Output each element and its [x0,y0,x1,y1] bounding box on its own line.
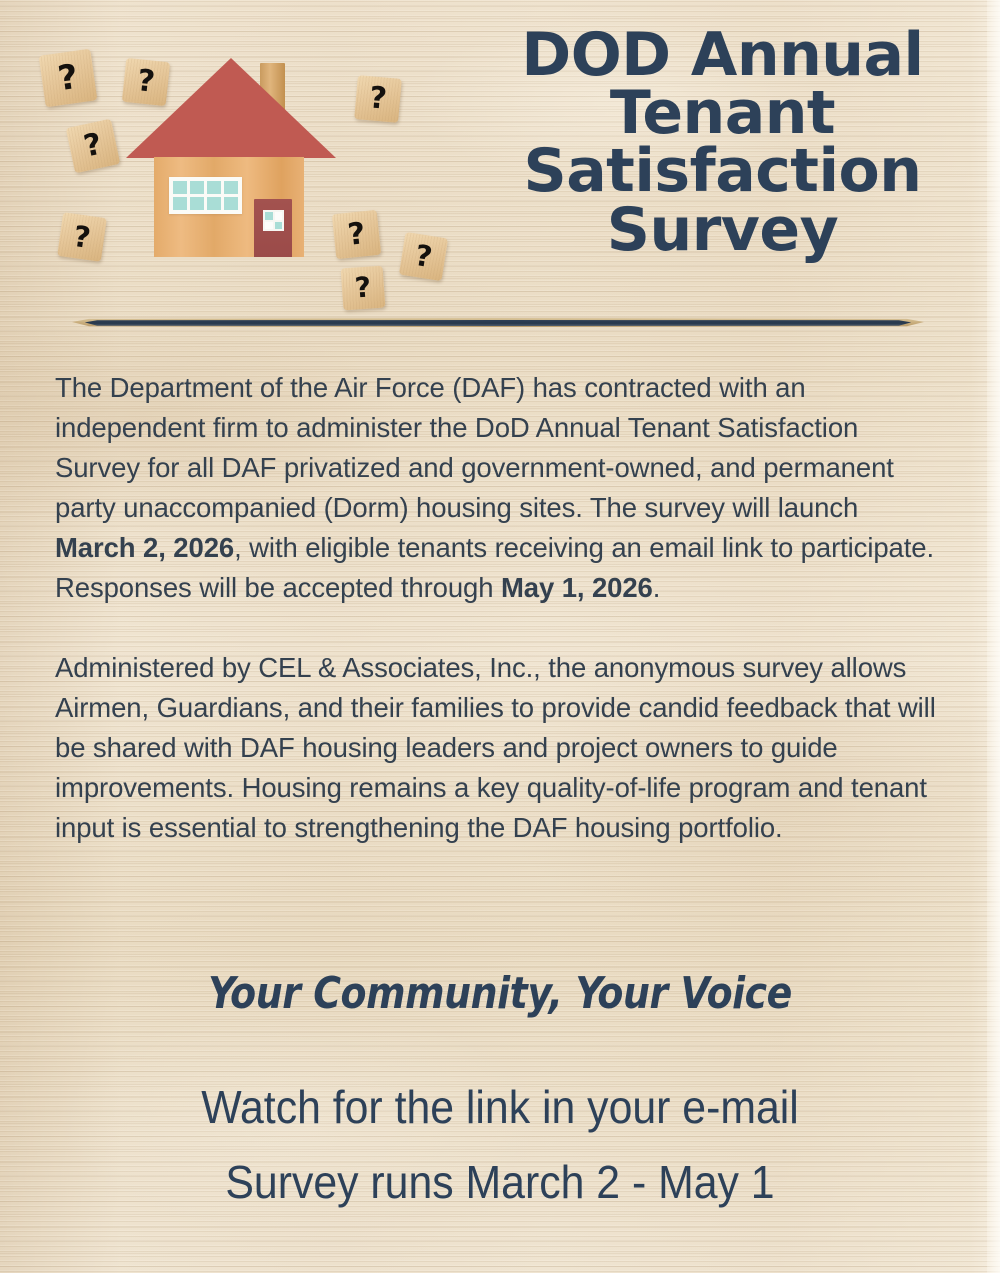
question-mark-block: ? [57,212,107,262]
question-mark-glyph: ? [136,66,156,98]
window-pane [190,197,204,210]
emphasized-date: May 1, 2026 [501,572,653,603]
title-line: DOD Annual [470,26,975,84]
question-mark-block: ? [341,266,386,311]
tagline: Your Community, Your Voice [70,968,930,1019]
question-mark-block: ? [66,119,121,174]
title-line: Survey [470,201,975,259]
poster-canvas: ???????? DOD Annual Tenant Satisfaction … [0,0,1000,1273]
question-mark-block: ? [39,49,98,108]
page-title: DOD Annual Tenant Satisfaction Survey [470,26,975,259]
question-mark-glyph: ? [346,219,366,251]
title-line: Satisfaction [470,142,975,200]
body-paragraph: Administered by CEL & Associates, Inc., … [55,648,945,848]
question-mark-block: ? [332,210,381,259]
poster-header: ???????? DOD Annual Tenant Satisfaction … [0,0,1000,300]
divider [72,315,924,331]
question-mark-glyph: ? [413,241,434,272]
closing-line-watch-for-link: Watch for the link in your e-mail [35,1080,965,1134]
door-pane [265,222,273,230]
emphasized-date: March 2, 2026 [55,532,234,563]
question-mark-block: ? [354,75,402,123]
house-question-blocks-illustration: ???????? [30,30,470,300]
house-door-icon [254,199,292,257]
door-pane [275,222,283,230]
door-window-icon [263,210,284,231]
divider-navy-core [85,320,911,326]
question-mark-glyph: ? [72,221,93,252]
question-mark-block: ? [122,58,170,106]
window-pane [224,181,238,194]
title-line: Tenant [470,84,975,142]
body-text-run: Administered by CEL & Associates, Inc., … [55,652,936,843]
window-pane [173,197,187,210]
house-window-icon [169,177,242,214]
window-pane [173,181,187,194]
window-pane [190,181,204,194]
window-pane [207,181,221,194]
question-mark-glyph: ? [81,130,104,163]
question-mark-glyph: ? [354,273,372,302]
question-mark-block: ? [399,232,448,281]
question-mark-glyph: ? [56,60,80,96]
body-paragraph: The Department of the Air Force (DAF) ha… [55,368,945,608]
window-pane [207,197,221,210]
question-mark-glyph: ? [368,83,388,114]
closing-line-survey-dates: Survey runs March 2 - May 1 [35,1155,965,1209]
body-text-run: . [653,572,661,603]
body-text-run: The Department of the Air Force (DAF) ha… [55,372,894,523]
window-pane [224,197,238,210]
door-pane [275,212,283,220]
body-copy: The Department of the Air Force (DAF) ha… [55,368,945,848]
door-pane [265,212,273,220]
